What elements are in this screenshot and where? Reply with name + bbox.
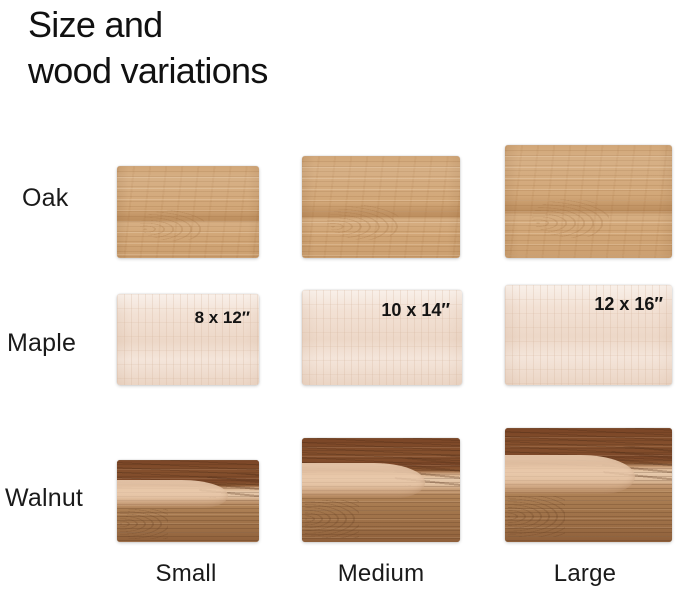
walnut-figure-swirl bbox=[305, 500, 359, 537]
board-maple-large[interactable]: 12 x 16″ bbox=[505, 285, 672, 385]
board-walnut-small[interactable] bbox=[117, 460, 259, 542]
board-oak-medium[interactable] bbox=[302, 156, 460, 258]
size-label-small: 8 x 12″ bbox=[195, 308, 250, 328]
size-label-medium: 10 x 14″ bbox=[381, 300, 450, 321]
walnut-sapwood-sweep bbox=[505, 455, 635, 494]
board-comparison-grid: Oak Maple Walnut 8 x 12″ 10 x 14″ 12 x 1… bbox=[0, 0, 679, 597]
walnut-figure-swirl bbox=[508, 496, 565, 537]
oak-figure-knot bbox=[327, 205, 400, 240]
walnut-figure-swirl bbox=[120, 509, 168, 539]
board-maple-small[interactable]: 8 x 12″ bbox=[117, 294, 259, 385]
walnut-sapwood-sweep bbox=[302, 463, 425, 498]
column-label-small: Small bbox=[126, 560, 246, 588]
column-label-medium: Medium bbox=[316, 560, 446, 588]
size-label-large: 12 x 16″ bbox=[594, 294, 663, 315]
board-maple-medium[interactable]: 10 x 14″ bbox=[302, 290, 462, 385]
board-walnut-medium[interactable] bbox=[302, 438, 460, 542]
board-oak-small[interactable] bbox=[117, 166, 259, 258]
row-label-maple: Maple bbox=[7, 329, 76, 358]
board-walnut-large[interactable] bbox=[505, 428, 672, 542]
row-label-walnut: Walnut bbox=[5, 484, 83, 513]
oak-figure-knot bbox=[532, 199, 609, 237]
walnut-sapwood-sweep bbox=[117, 480, 228, 508]
board-oak-large[interactable] bbox=[505, 145, 672, 258]
column-label-large: Large bbox=[525, 560, 645, 588]
row-label-oak: Oak bbox=[22, 184, 68, 213]
